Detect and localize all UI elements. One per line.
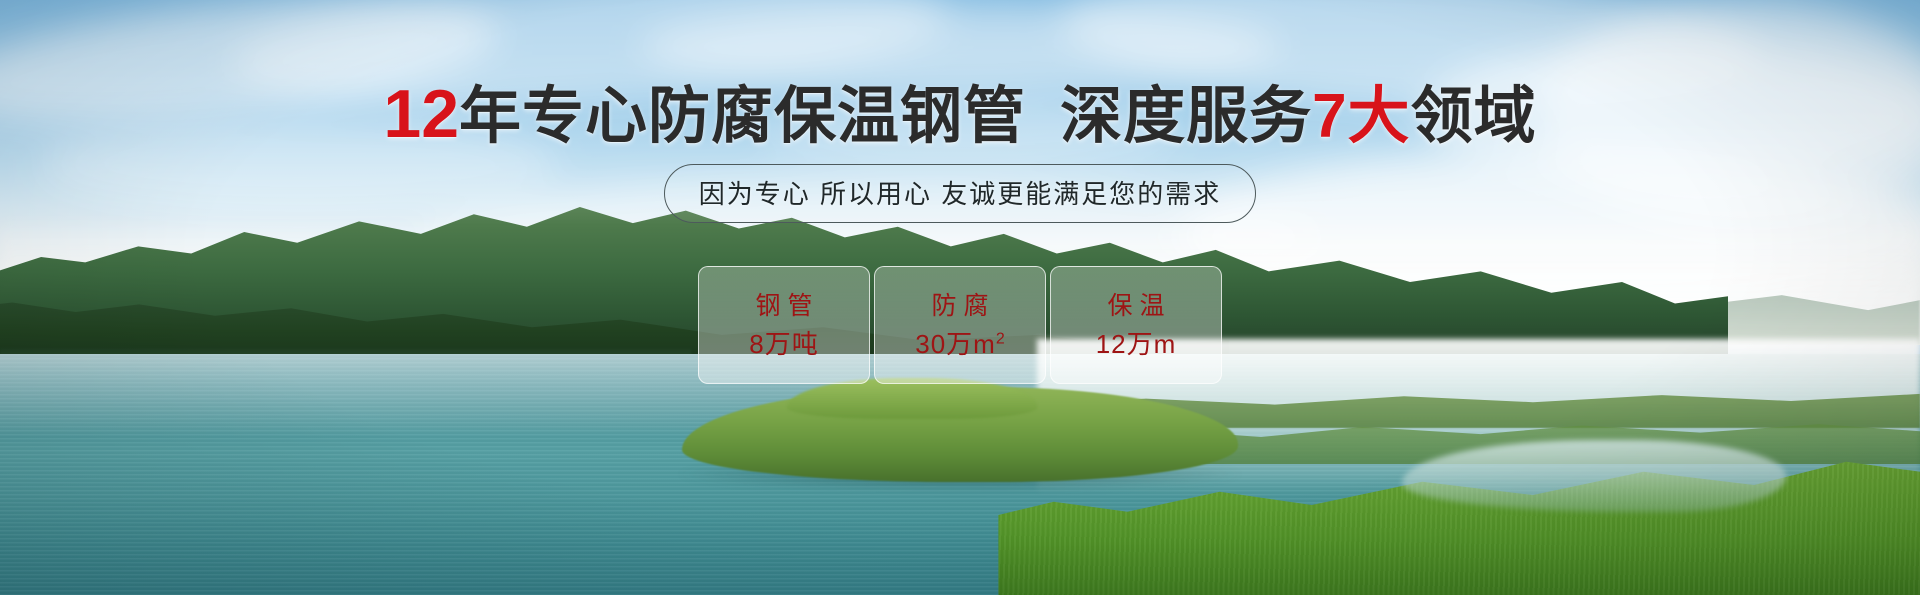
headline-highlight: 7大 xyxy=(1312,82,1410,151)
stat-card[interactable]: 保温 12万m xyxy=(1050,266,1222,384)
stat-card-label: 防腐 xyxy=(924,294,995,319)
stat-card-list: 钢管 8万吨 防腐 30万m2 保温 12万m xyxy=(0,266,1920,384)
headline-part-two: 深度服务 xyxy=(1060,82,1312,151)
stat-card-value-text: 12万m xyxy=(1096,329,1177,359)
stat-card-value-text: 30万m xyxy=(915,329,996,359)
stat-card[interactable]: 防腐 30万m2 xyxy=(874,266,1046,384)
subtitle-container: 因为专心 所以用心 友诚更能满足您的需求 xyxy=(0,164,1920,223)
headline-part-three: 领域 xyxy=(1411,82,1537,151)
stat-card-value: 12万m xyxy=(1096,331,1177,357)
stat-card-label: 钢管 xyxy=(748,294,819,319)
stat-card-value: 8万吨 xyxy=(749,331,818,357)
hero-banner: 12年专心防腐保温钢管深度服务7大领域 因为专心 所以用心 友诚更能满足您的需求… xyxy=(0,0,1920,595)
headline-years-number: 12 xyxy=(383,76,459,152)
stat-card[interactable]: 钢管 8万吨 xyxy=(698,266,870,384)
stat-card-value: 30万m2 xyxy=(915,331,1005,357)
subtitle-pill: 因为专心 所以用心 友诚更能满足您的需求 xyxy=(664,164,1256,223)
stat-card-superscript: 2 xyxy=(996,330,1005,347)
headline: 12年专心防腐保温钢管深度服务7大领域 xyxy=(0,78,1920,151)
stat-card-label: 保温 xyxy=(1100,294,1171,319)
stat-card-value-text: 8万吨 xyxy=(749,329,818,359)
banner-content: 12年专心防腐保温钢管深度服务7大领域 因为专心 所以用心 友诚更能满足您的需求… xyxy=(0,0,1920,595)
headline-part-one: 年专心防腐保温钢管 xyxy=(459,82,1026,151)
